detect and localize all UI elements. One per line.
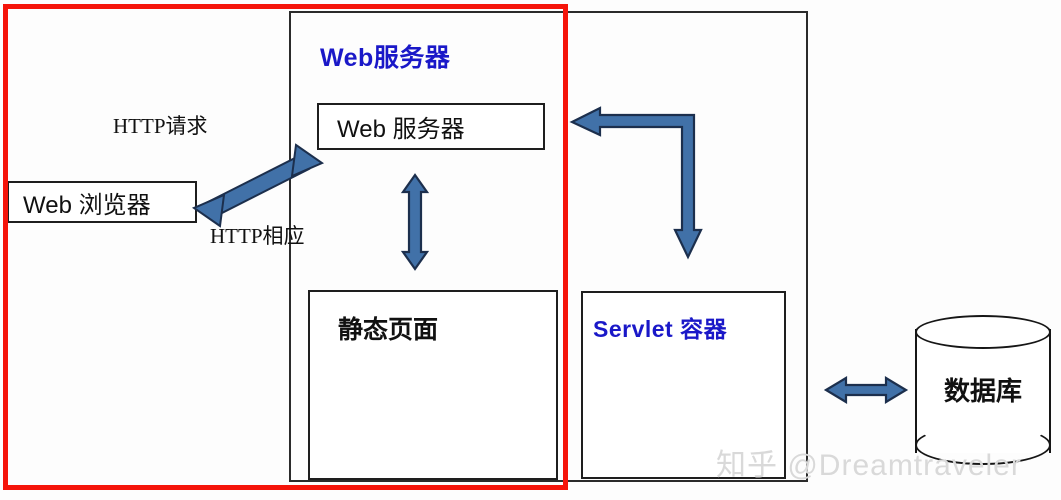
web-server-label: Web 服务器 [337,109,465,144]
servlet-container-title: Servlet 容器 [593,310,727,344]
web-browser-node[interactable]: Web 浏览器 [7,181,197,223]
diagram-canvas: Web服务器 Web 浏览器 Web 服务器 HTTP请求 HTTP相应 静态页… [0,0,1061,500]
database-bidirectional-arrow [826,378,906,402]
http-response-label: HTTP相应 [210,220,305,250]
database-cylinder-top [915,315,1051,349]
static-pages-label: 静态页面 [338,310,438,346]
web-browser-label: Web 浏览器 [23,185,151,220]
static-pages-node[interactable]: 静态页面 [308,290,558,480]
web-server-node[interactable]: Web 服务器 [317,103,545,150]
web-server-section-title: Web服务器 [320,38,450,74]
watermark-text: 知乎 @Dreamtraveler [716,440,1022,484]
http-request-label: HTTP请求 [113,110,208,140]
database-label: 数据库 [915,371,1051,408]
